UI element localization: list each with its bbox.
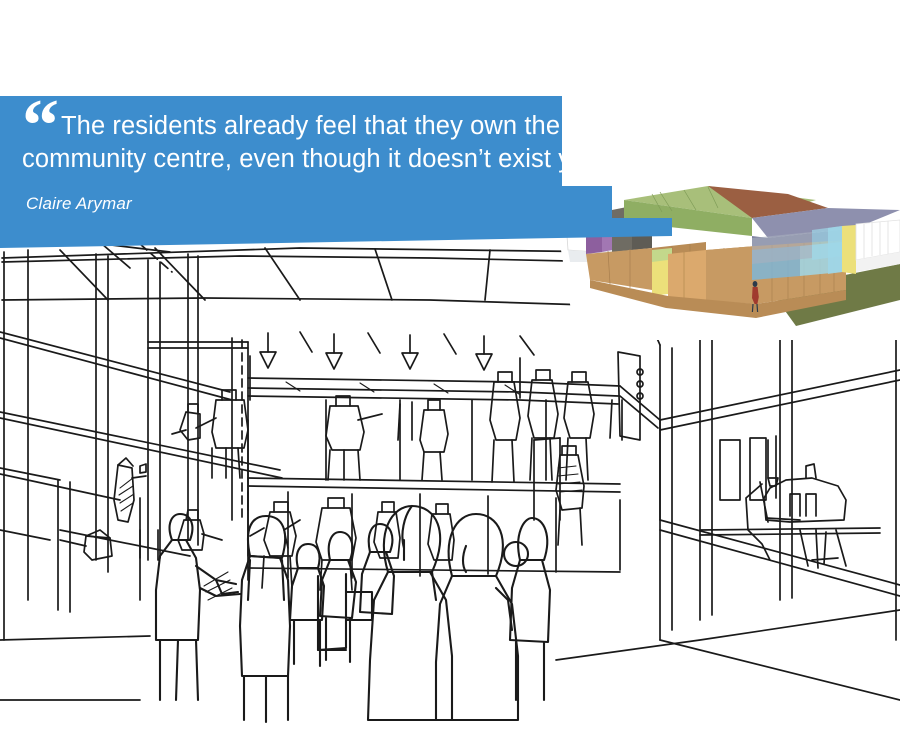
quote-line-1: The residents already feel that they own… [61, 112, 614, 140]
pull-quote-text: “The residents already feel that they ow… [22, 110, 660, 176]
quote-attribution: Claire Arymar [26, 194, 660, 214]
pull-quote-banner: “The residents already feel that they ow… [0, 96, 680, 249]
quote-line-2: community centre, even though it doesn’t… [22, 143, 660, 176]
orange-wall [668, 250, 706, 300]
illustration-canvas: “The residents already feel that they ow… [0, 0, 900, 750]
yellow-accent-panel [652, 260, 668, 296]
yellow-tall-panel [842, 225, 856, 274]
